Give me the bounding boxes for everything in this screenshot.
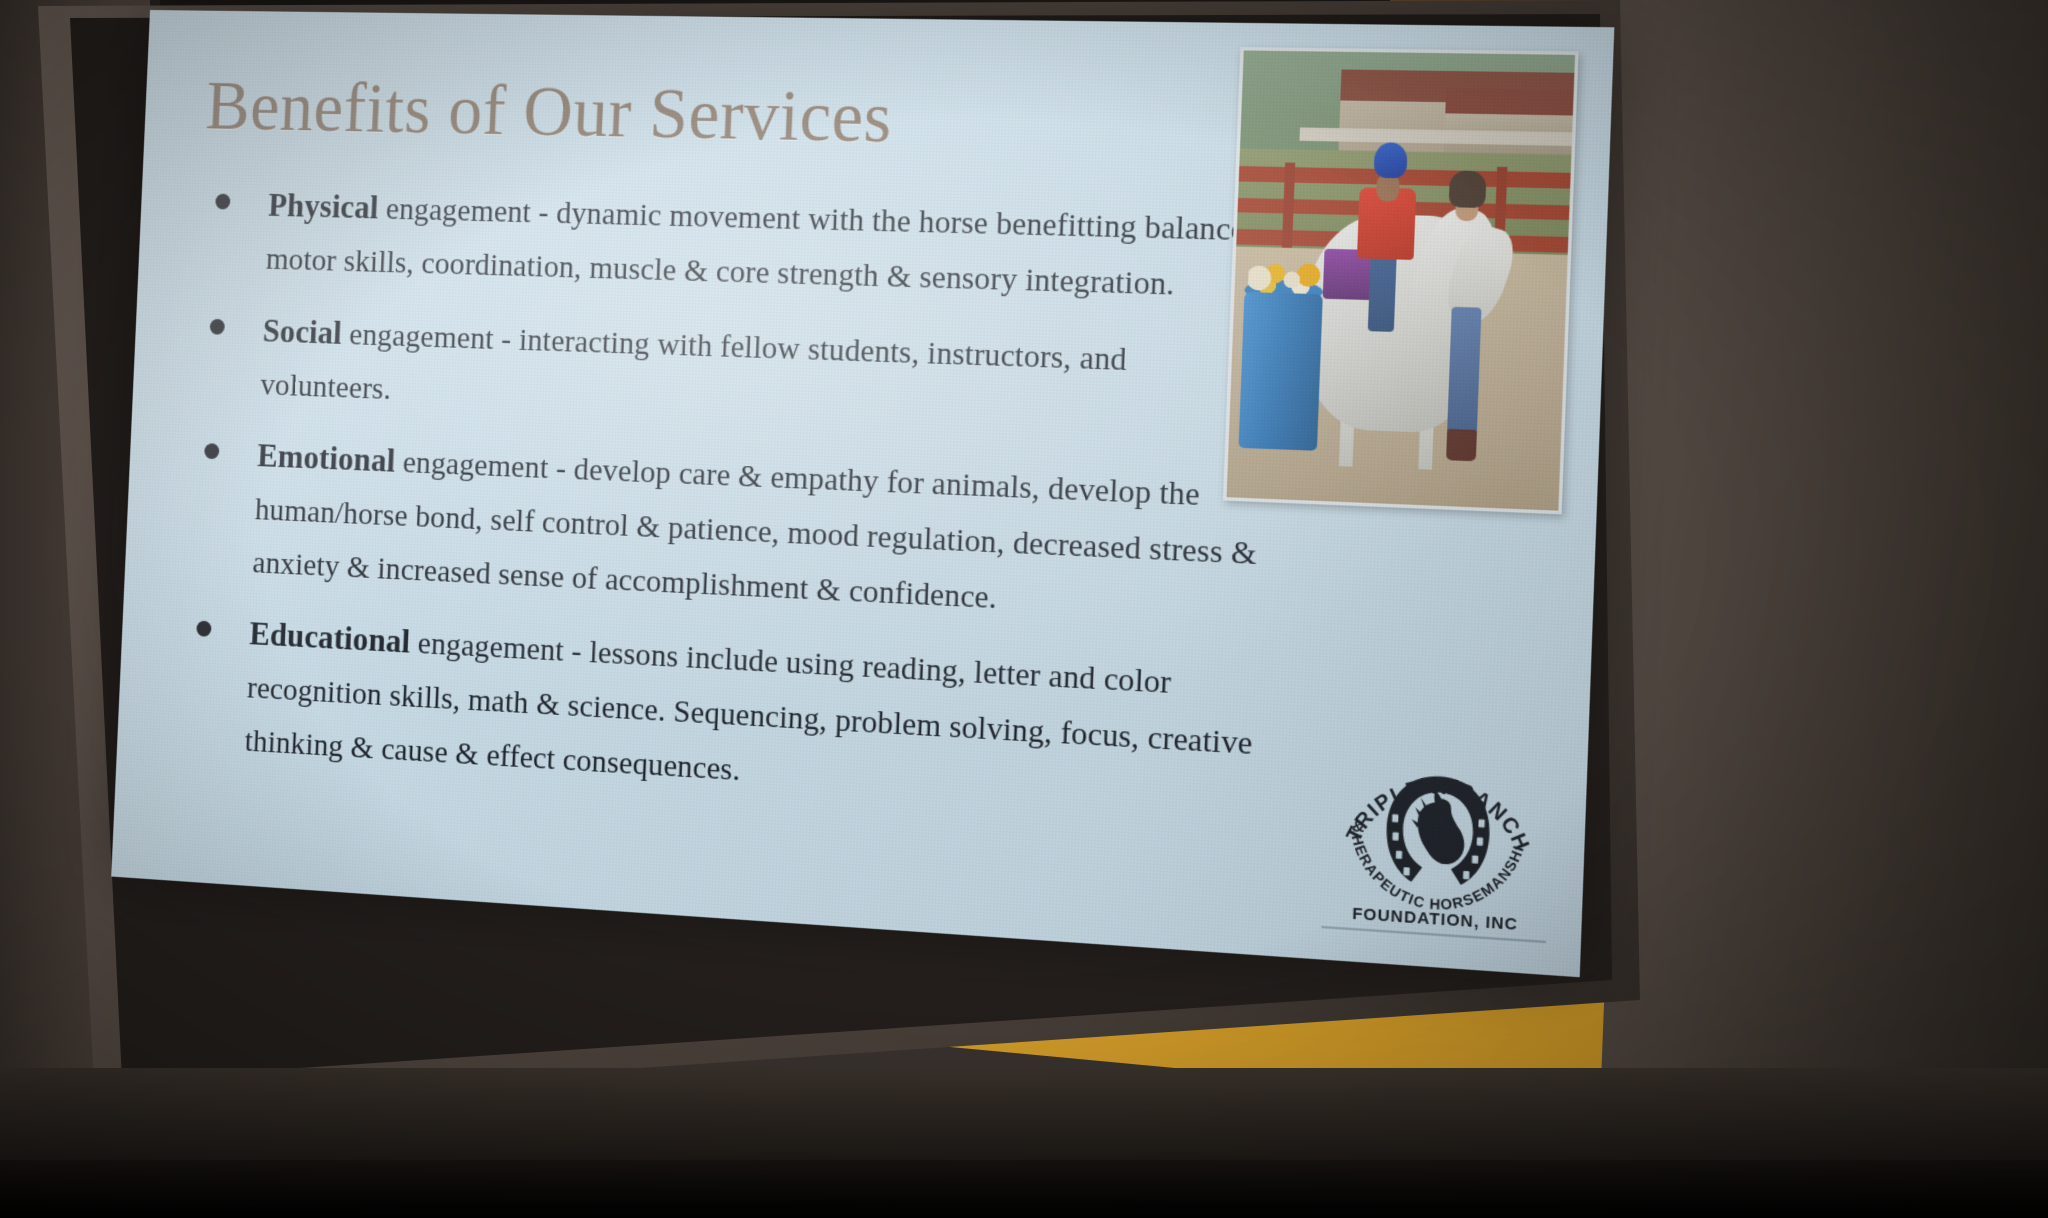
bullet-text-educational: Educational engagement - lessons include… [244,619,1253,788]
bullet-rest-emotional: engagement - develop care & empathy for … [252,446,1257,616]
benefits-list: Physical engagement - dynamic movement w… [173,176,1275,829]
list-item-emotional: Emotional engagement - develop care & em… [181,425,1265,639]
presentation-slide: Benefits of Our Services Physical engage… [111,10,1614,977]
list-item-educational: Educational engagement - lessons include… [173,602,1257,829]
bullet-rest-social: engagement - interacting with fellow stu… [260,318,1128,406]
bullet-text-emotional: Emotional engagement - develop care & em… [252,440,1257,615]
bullet-lead-physical: Physical [268,187,380,226]
bullet-dot-icon [210,319,225,335]
photo-colored-balls [1247,260,1323,293]
photo-rider-helmet [1373,142,1407,179]
bullet-dot-icon [204,443,219,459]
list-item-social: Social engagement - interacting with fel… [189,300,1270,449]
list-item-physical: Physical engagement - dynamic movement w… [194,176,1275,316]
bullet-rest-physical: engagement - dynamic movement with the h… [265,193,1254,303]
slide-perspective-wrap: Benefits of Our Services Physical engage… [0,0,1640,1100]
wall-right [1578,0,2048,1218]
photo-blue-barrel [1238,292,1322,452]
triple-h-ranch-logo: TRIPLE H RANCH THERAPEUTIC HORSEMANSHIP … [1331,726,1547,936]
bullet-lead-emotional: Emotional [257,437,397,479]
bullet-text-physical: Physical engagement - dynamic movement w… [265,190,1254,302]
photo-volunteer-leg [1446,307,1481,444]
photo-volunteer-boot [1446,429,1477,462]
bullet-lead-social: Social [262,312,343,351]
floor-shadow [0,1160,2048,1218]
bullet-dot-icon [215,194,230,210]
bullet-lead-educational: Educational [249,615,411,660]
room-scene: Benefits of Our Services Physical engage… [0,0,2048,1218]
logo-ampersand: & [1352,818,1365,837]
bullet-dot-icon [196,621,211,637]
photo-rider-leg [1367,250,1397,332]
slide-photo [1223,47,1579,514]
bullet-text-social: Social engagement - interacting with fel… [260,315,1128,406]
photo-volunteer-hair [1448,171,1486,208]
